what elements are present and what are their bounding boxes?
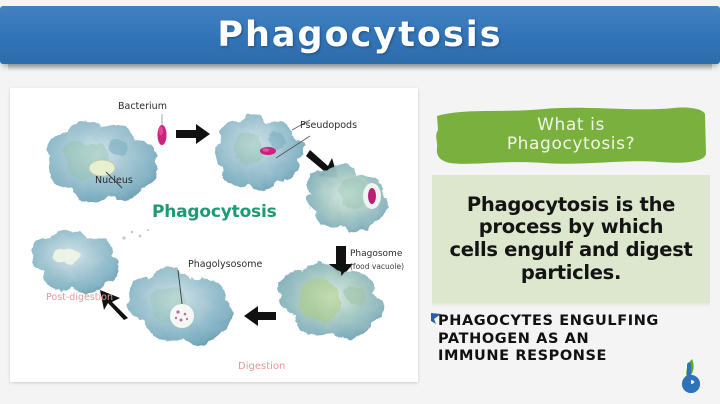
title-bar-shadow [8,64,712,71]
diagram-illustration [10,88,418,382]
page-title: Phagocytosis [217,15,502,55]
brand-logo-icon[interactable] [678,358,712,394]
title-bar: Phagocytosis [0,6,720,64]
caption-line-2: pathogen as an [438,331,700,349]
label-bacterium: Bacterium [118,102,167,112]
phagolysosome-vesicle [170,304,194,328]
arrow-right-1 [176,124,210,144]
image-caption: Phagocytes engulfing pathogen as an immu… [438,313,700,366]
nucleus-shape [89,160,115,176]
label-pseudopods: Pseudopods [300,121,357,131]
bacterium-shape-2 [260,147,276,155]
label-phagolysosome: Phagolysosome [188,260,262,270]
definition-box: Phagocytosis is the process by which cel… [432,175,710,303]
cell-stage-2 [215,114,304,190]
label-phagosome: Phagosome [350,250,402,259]
cell-stage-6 [31,230,119,294]
banner-text: What is Phagocytosis? [434,104,708,168]
label-phagosome-sub: (food vacuole) [350,263,404,271]
caption-line-1: Phagocytes engulfing [438,313,700,331]
label-nucleus: Nucleus [95,176,133,186]
cell-stage-4 [280,262,384,338]
definition-line-4: particles. [521,262,621,285]
banner-line-1: What is [537,116,605,135]
definition-line-3: cells engulf and digest [449,239,692,262]
bacterium-shape-3 [368,188,376,204]
label-digestion: Digestion [238,362,285,373]
what-is-banner: What is Phagocytosis? [434,104,708,168]
phagocytosis-cycle-diagram: Bacterium Nucleus Pseudopods Phagosome (… [10,88,418,382]
arrow-left-1 [244,306,276,326]
slide-canvas: Phagocytosis [0,0,720,404]
caption-line-3: immune response [438,348,700,366]
definition-line-1: Phagocytosis is the [467,194,675,217]
banner-line-2: Phagocytosis? [507,135,635,154]
bacterium-shape-1 [158,114,167,145]
label-post-digestion: Post-digestion [46,293,113,303]
expelled-debris [122,229,149,240]
definition-line-2: process by which [479,216,663,239]
label-phagocytosis-center: Phagocytosis [152,204,277,222]
definition-text: Phagocytosis is the process by which cel… [432,175,710,303]
